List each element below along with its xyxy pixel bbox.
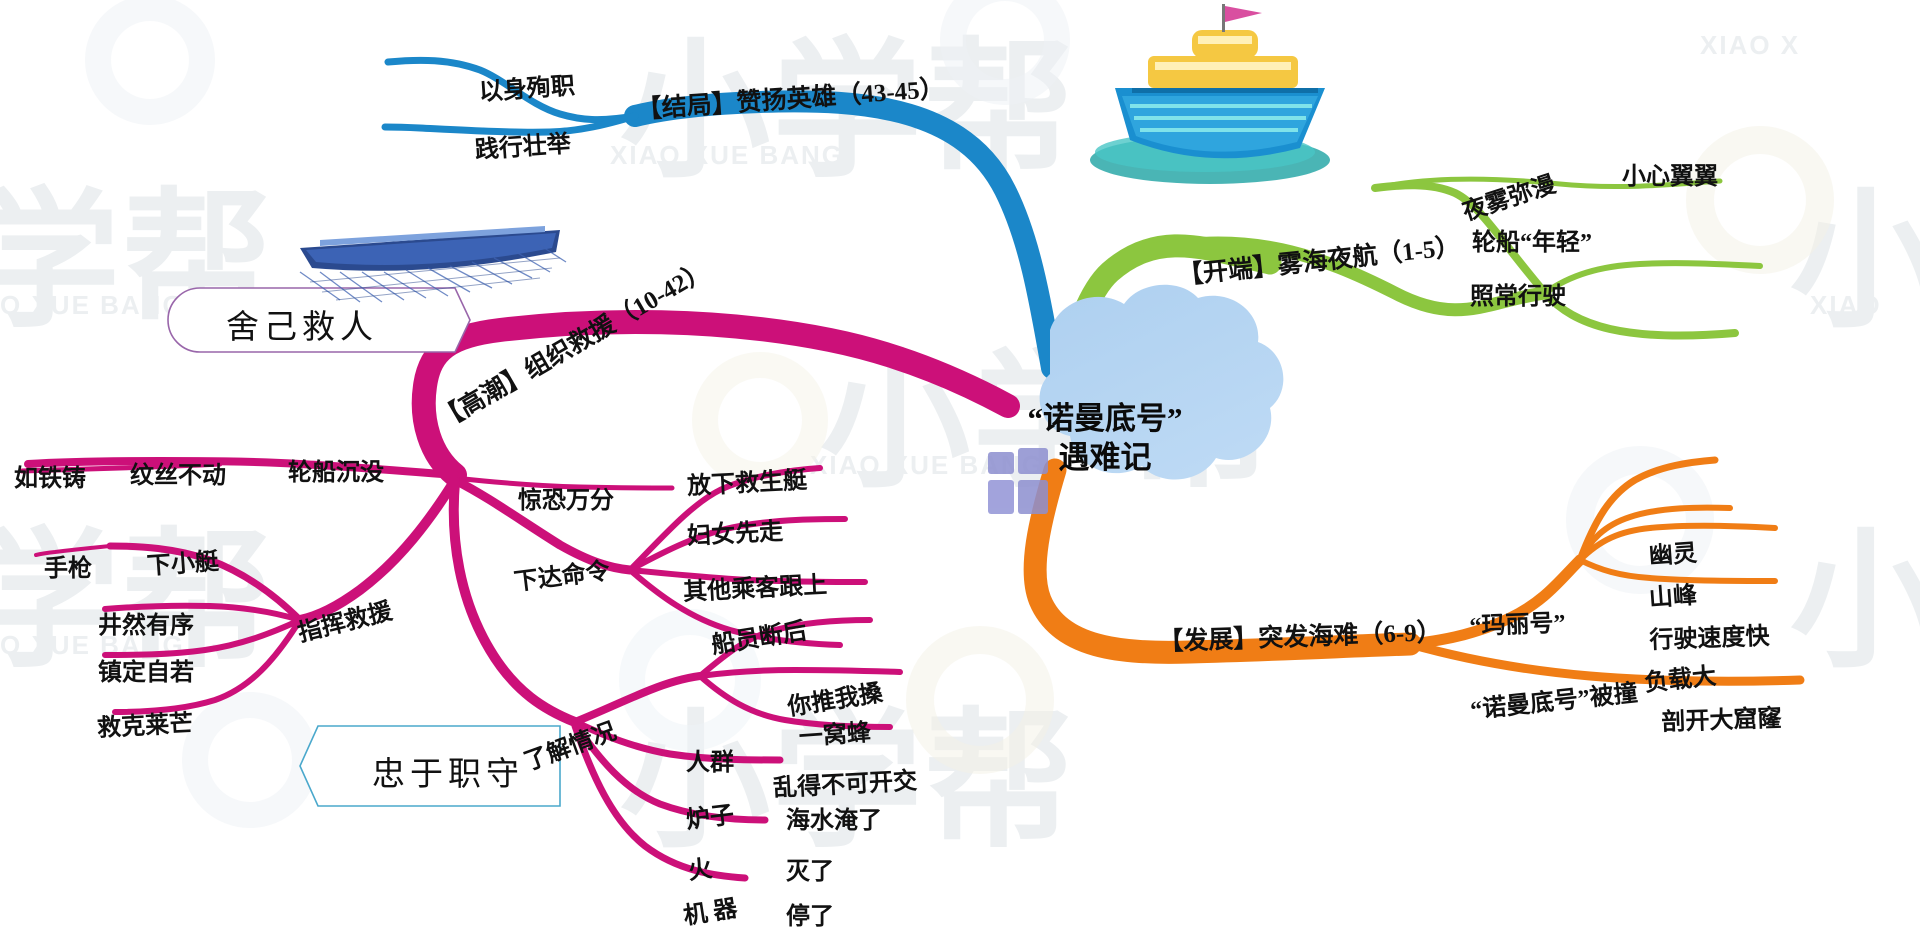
branch-gaochao-node-2-2[interactable]: 火 xyxy=(686,848,714,886)
center-line-1: “诺曼底号” xyxy=(1010,400,1200,439)
branch-gaochao-node-2-0[interactable]: 放下救生艇 xyxy=(686,460,808,501)
center-line-2: 遇难记 xyxy=(1010,439,1200,478)
branch-gaochao-node-2-3[interactable]: 镇定自若 xyxy=(98,652,194,687)
branch-gaochao-node-2-1[interactable]: 手枪 xyxy=(44,548,92,583)
branch-gaochao-node-3-0[interactable]: 海水淹了 xyxy=(786,800,882,835)
branch-fazhan-node-2-0[interactable]: 幽灵 xyxy=(1648,533,1698,571)
branch-gaochao-node-1-1[interactable]: 惊恐万分 xyxy=(518,480,614,515)
branch-kaiduan-node-2-0[interactable]: 小心翼翼 xyxy=(1622,156,1718,191)
branch-fazhan-node-2-1[interactable]: 山峰 xyxy=(1648,575,1698,613)
branch-gaochao-node-1-0[interactable]: 轮船沉没 xyxy=(288,452,384,487)
branch-gaochao-node-3-1[interactable]: 一窝蜂 xyxy=(798,712,872,752)
branch-jieju-node-1-1[interactable]: 践行壮举 xyxy=(474,123,572,165)
callout-zhongyu-zhishou-label: 忠于职守 xyxy=(372,747,524,795)
branch-gaochao-node-2-2[interactable]: 井然有序 xyxy=(98,605,194,640)
branch-gaochao-node-3-0[interactable]: 灭了 xyxy=(786,851,834,886)
branch-kaiduan-node-1-1[interactable]: 轮船“年轻” xyxy=(1472,222,1592,257)
branch-fazhan-node-1-0[interactable]: “玛丽号” xyxy=(1469,603,1566,641)
branch-gaochao-node-2-1[interactable]: 如铁铸 xyxy=(14,458,86,493)
branch-jieju-node-1-0[interactable]: 以身殉职 xyxy=(478,65,576,107)
mindmap-canvas: 小学帮XIAO XUE BANG小学帮XIAO XUE BANG学帮O XUE … xyxy=(0,0,1920,936)
branch-gaochao-node-2-0[interactable]: 纹丝不动 xyxy=(130,455,226,490)
rowing-boat-illustration xyxy=(300,226,566,302)
branch-gaochao-node-2-4[interactable]: 救克莱芒 xyxy=(96,703,194,743)
branch-gaochao-node-3-0[interactable]: 停了 xyxy=(786,896,834,931)
cruise-ship-illustration xyxy=(1090,4,1330,184)
branch-gaochao-node-2-0[interactable]: 人群 xyxy=(686,742,734,777)
branch-gaochao-node-2-0[interactable]: 下小艇 xyxy=(146,541,220,581)
branch-fazhan-node-2-0[interactable]: 剖开大窟窿 xyxy=(1661,698,1782,737)
branch-kaiduan-node-1-2[interactable]: 照常行驶 xyxy=(1470,276,1566,311)
branch-fazhan-node-2-2[interactable]: 行驶速度快 xyxy=(1649,616,1770,655)
center-node-label: “诺曼底号” 遇难记 xyxy=(1010,400,1200,478)
branch-fazhan-node-2-3[interactable]: 负载大 xyxy=(1642,656,1717,698)
branch-gaochao-node-2-1[interactable]: 炉子 xyxy=(684,794,736,835)
callout-sheji-jiuren-label: 舍己救人 xyxy=(226,300,378,348)
branch-gaochao-node-2-1[interactable]: 妇女先走 xyxy=(686,511,784,551)
